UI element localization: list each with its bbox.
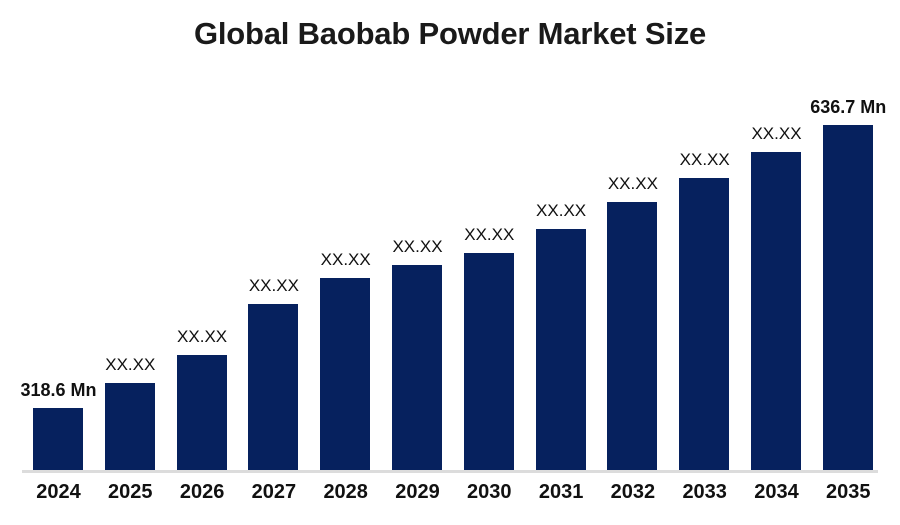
bar-group: XX.XX2033 [667, 0, 742, 525]
bar-group: XX.XX2025 [93, 0, 168, 525]
bar-group: 318.6 Mn2024 [21, 0, 96, 525]
bar[interactable] [751, 152, 801, 470]
bar-group: XX.XX2026 [165, 0, 240, 525]
bar[interactable] [320, 278, 370, 470]
bar[interactable] [823, 125, 873, 470]
bar[interactable] [33, 408, 83, 470]
bar[interactable] [536, 229, 586, 470]
bar-group: 636.7 Mn2035 [811, 0, 886, 525]
bar[interactable] [679, 178, 729, 470]
bar-value-label: 636.7 Mn [797, 97, 900, 118]
plot-area: 318.6 Mn2024XX.XX2025XX.XX2026XX.XX2027X… [0, 0, 900, 525]
bar[interactable] [392, 265, 442, 470]
bar-group: XX.XX2032 [595, 0, 670, 525]
bar[interactable] [105, 383, 155, 470]
bar-group: XX.XX2029 [380, 0, 455, 525]
bar-group: XX.XX2034 [739, 0, 814, 525]
bar-group: XX.XX2028 [308, 0, 383, 525]
bar[interactable] [248, 304, 298, 470]
bar[interactable] [177, 355, 227, 470]
bar-group: XX.XX2030 [452, 0, 527, 525]
bar[interactable] [607, 202, 657, 470]
bar[interactable] [464, 253, 514, 470]
bar-group: XX.XX2031 [524, 0, 599, 525]
chart-container: Global Baobab Powder Market Size 318.6 M… [0, 0, 900, 525]
x-axis-tick-label: 2035 [797, 481, 900, 504]
